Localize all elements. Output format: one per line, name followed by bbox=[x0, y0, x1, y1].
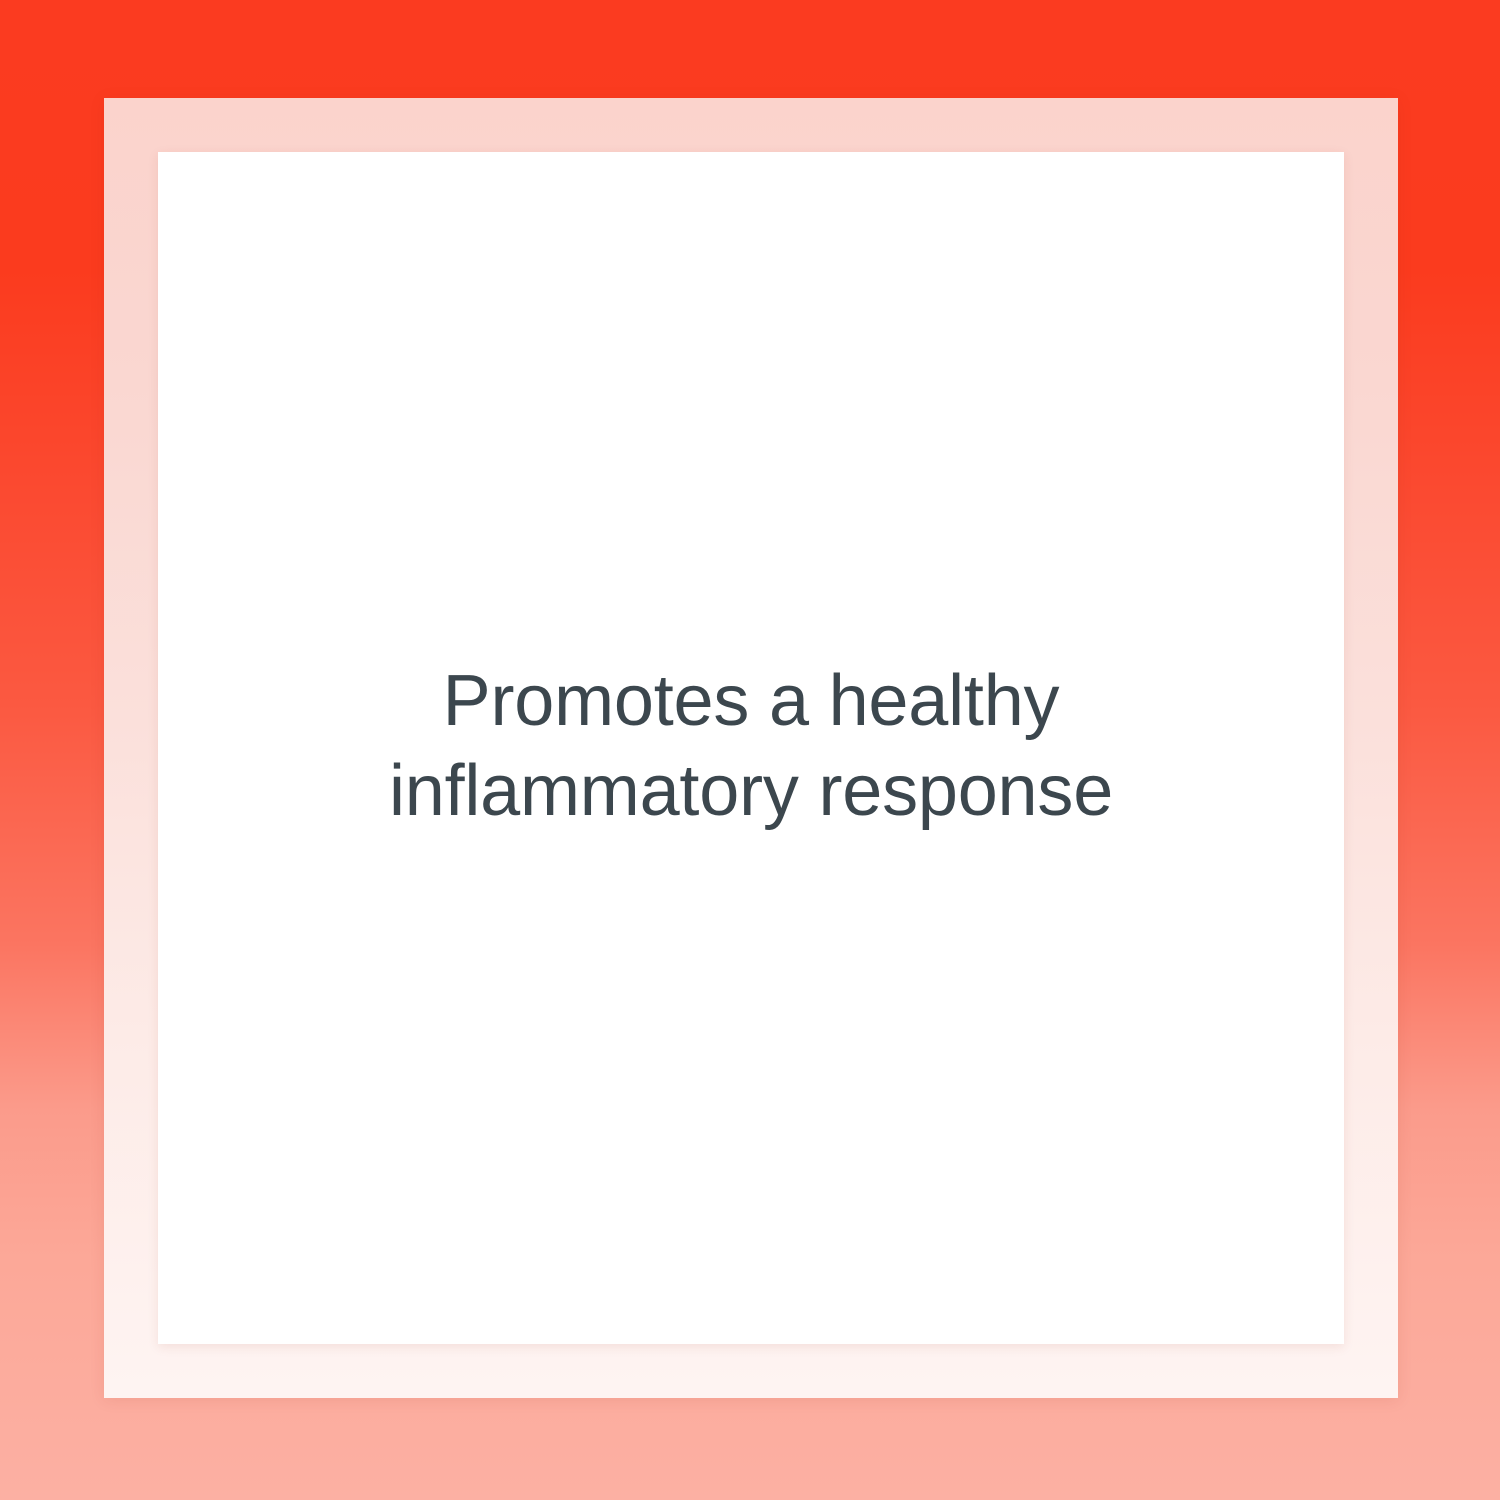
benefit-card: Promotes a healthy inflammatory response bbox=[158, 152, 1344, 1344]
benefit-headline: Promotes a healthy inflammatory response bbox=[158, 656, 1344, 836]
benefit-headline-line-2: inflammatory response bbox=[198, 746, 1304, 836]
card-outer-frame: Promotes a healthy inflammatory response bbox=[104, 98, 1398, 1398]
benefit-headline-line-1: Promotes a healthy bbox=[198, 656, 1304, 746]
gradient-backdrop: Promotes a healthy inflammatory response bbox=[0, 0, 1500, 1500]
